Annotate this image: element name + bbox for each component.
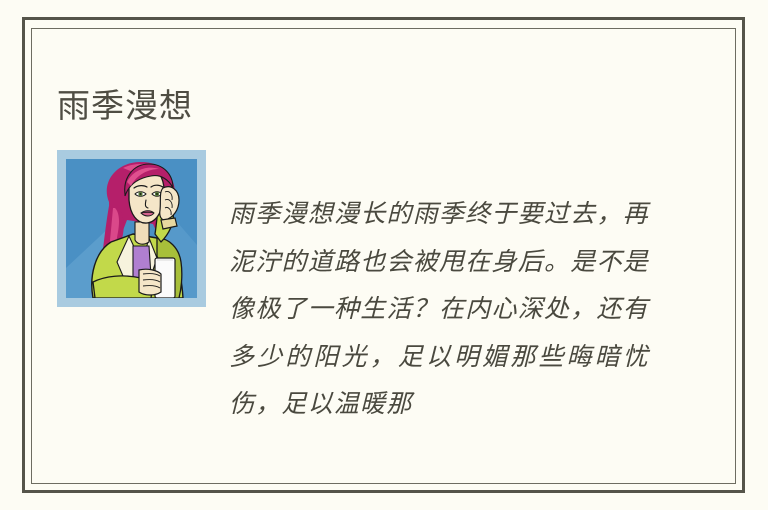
article-body-text: 雨季漫想漫长的雨季终于要过去，再泥泞的道路也会被甩在身后。是不是像极了一种生活？… (229, 190, 649, 428)
woman-with-glass-illustration (57, 150, 206, 307)
article-illustration (57, 150, 206, 307)
article-page: 雨季漫想 (0, 0, 768, 510)
page-title: 雨季漫想 (57, 85, 193, 127)
